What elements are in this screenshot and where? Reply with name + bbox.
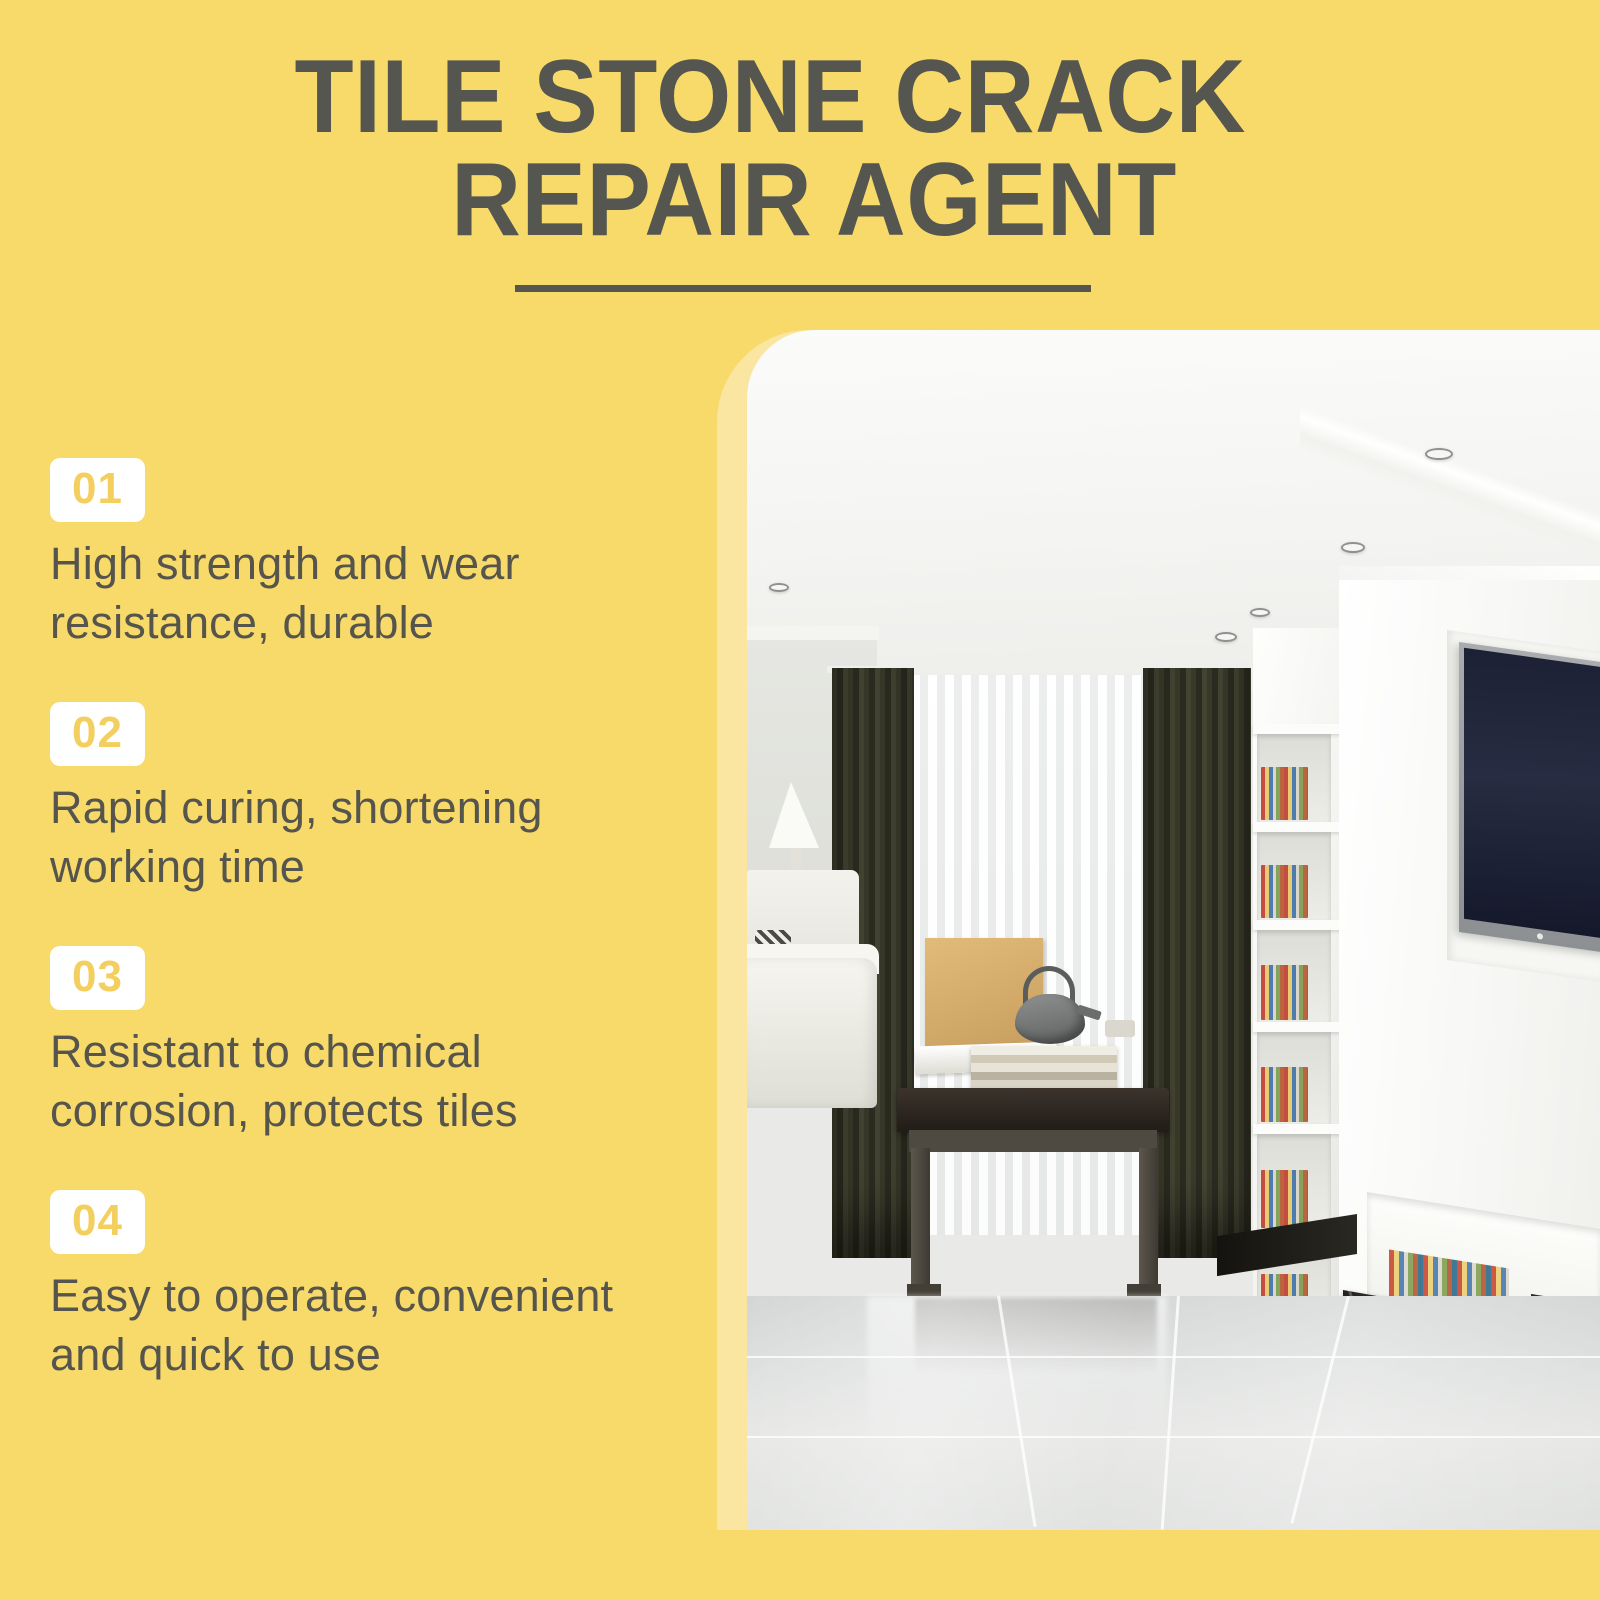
coffee-table-top (897, 1088, 1169, 1132)
title-line-2: REPAIR AGENT (56, 149, 1544, 252)
feature-text-03: Resistant to chemical corrosion, protect… (50, 1023, 690, 1140)
table-leg (911, 1148, 930, 1300)
feature-text-02: Rapid curing, shortening working time (50, 779, 690, 896)
feature-item-03: 03 Resistant to chemical corrosion, prot… (50, 946, 698, 1140)
sofa-seat (747, 958, 877, 1108)
feature-number-badge-02: 02 (50, 702, 145, 766)
feature-list: 01 High strength and wear resistance, du… (50, 458, 698, 1384)
living-room-photo (747, 330, 1600, 1530)
title-line-1: TILE STONE CRACK (56, 46, 1544, 149)
cup (1105, 1020, 1135, 1037)
feature-number-badge-04: 04 (50, 1190, 145, 1254)
downlight-icon (1425, 448, 1453, 460)
title-underline (515, 285, 1091, 292)
lamp-shade (769, 782, 819, 848)
downlight-icon (1250, 608, 1270, 617)
television (1459, 642, 1600, 953)
feature-number-badge-01: 01 (50, 458, 145, 522)
left-wall-trim (747, 626, 879, 640)
tv-power-indicator (1537, 933, 1543, 940)
feature-item-04: 04 Easy to operate, convenient and quick… (50, 1190, 698, 1384)
page-title: TILE STONE CRACK REPAIR AGENT (0, 46, 1600, 252)
shelf-niche (1257, 1134, 1331, 1230)
floor-gloss (747, 1296, 1600, 1530)
feature-text-04: Easy to operate, convenient and quick to… (50, 1267, 690, 1384)
feature-number-badge-03: 03 (50, 946, 145, 1010)
downlight-icon (1341, 542, 1365, 553)
photo-frame (717, 330, 1600, 1530)
feature-text-01: High strength and wear resistance, durab… (50, 535, 690, 652)
shelf-niche (1257, 832, 1331, 920)
feature-item-02: 02 Rapid curing, shortening working time (50, 702, 698, 896)
table-leg (1139, 1148, 1158, 1300)
shelf-niche (1257, 1032, 1331, 1124)
stacked-books (971, 1046, 1117, 1092)
shelf-niche (1257, 734, 1331, 822)
coffee-table-apron (909, 1130, 1157, 1152)
product-infographic-poster: TILE STONE CRACK REPAIR AGENT 01 High st… (0, 0, 1600, 1600)
tv-screen (1464, 648, 1600, 939)
downlight-icon (769, 583, 789, 592)
shelf-niche (1257, 930, 1331, 1022)
curtain-right (1143, 668, 1251, 1258)
kettle (1015, 994, 1085, 1044)
feature-item-01: 01 High strength and wear resistance, du… (50, 458, 698, 652)
downlight-icon (1215, 632, 1237, 642)
